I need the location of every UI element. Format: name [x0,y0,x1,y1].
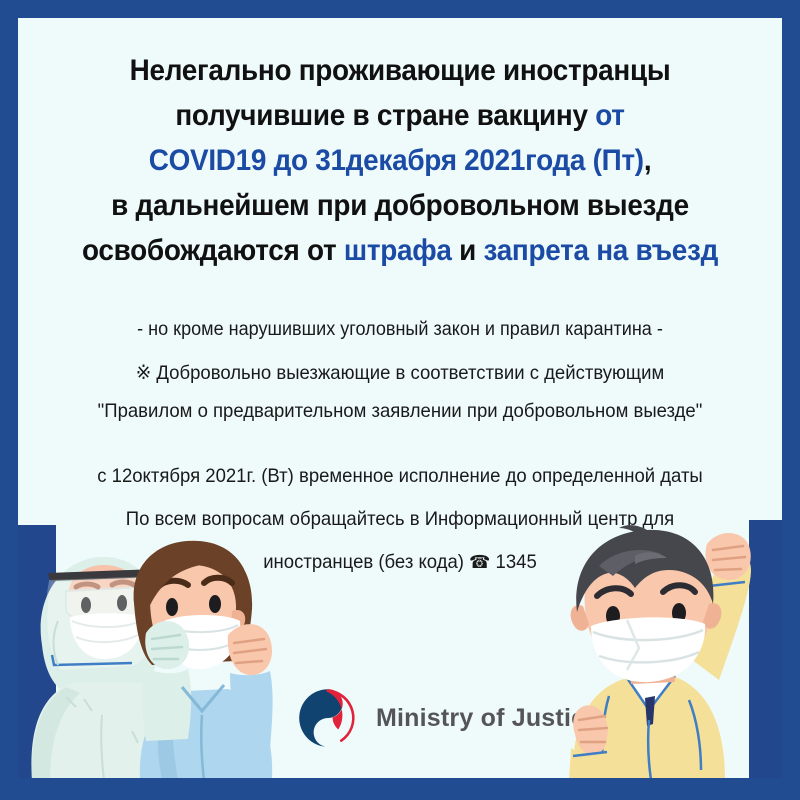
headline-line-5: освобождаются от штрафа и запрета на въе… [45,228,756,273]
headline-line-4-text: в дальнейшем при добровольном выезде [111,189,689,222]
headline-line-2-black: получившие в стране вакцину [175,99,595,132]
headline-line-2: получившие в стране вакцину от [45,93,756,138]
headline-line-5-black-a: освобождаются от [82,234,344,267]
illustration-medical-workers [18,525,304,778]
effective-date-line: с 12октября 2021г. (Вт) временное исполн… [37,455,763,498]
headline-line-5-black-b: и [452,234,484,267]
exception-note-text: - но кроме нарушивших уголовный закон и … [137,319,663,340]
headline-line-4: в дальнейшем при добровольном выезде [45,183,756,228]
taegeuk-logo-icon [296,686,360,750]
contact-phone-number: 1345 [490,551,536,573]
telephone-icon: ☎ [469,552,490,572]
headline-line-3: COVID19 до 31декабря 2021года (Пт), [45,138,756,183]
cheering-man [569,525,751,778]
voluntary-departure-note: ※ Добровольно выезжающие в соответствии … [37,354,763,430]
headline-line-2-blue: от [595,99,624,132]
headline-block: Нелегально проживающие иностранцы получи… [45,48,756,273]
headline-line-5-blue-b: запрета на въезд [483,234,718,267]
exception-note: - но кроме нарушивших уголовный закон и … [37,315,763,345]
poster-root: Нелегально проживающие иностранцы получи… [0,0,800,800]
illustration-cheering-man [549,520,782,778]
headline-line-3-black: , [644,144,651,177]
headline-line-1: Нелегально проживающие иностранцы [45,48,756,93]
nurse-worker [134,541,273,778]
headline-line-5-blue-a: штрафа [344,234,452,267]
voluntary-departure-line-2: "Правилом о предварительном заявлении пр… [37,392,763,430]
poster-inner-panel: Нелегально проживающие иностранцы получи… [18,18,782,778]
headline-line-3-blue: COVID19 до 31декабря 2021года (Пт) [149,144,644,177]
voluntary-departure-line-1: ※ Добровольно выезжающие в соответствии … [37,354,763,392]
headline-line-1-text: Нелегально проживающие иностранцы [130,54,671,87]
